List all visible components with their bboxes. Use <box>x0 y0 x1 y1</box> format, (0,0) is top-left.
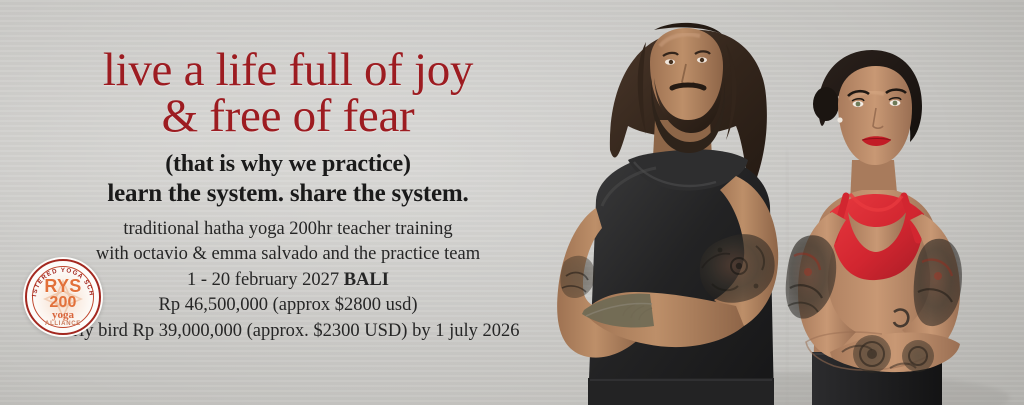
detail-location: BALI <box>344 270 389 290</box>
headline-line-1: live a life full of joy <box>103 44 473 96</box>
detail-dates: 1 - 20 february 2027 BALI <box>38 268 538 294</box>
detail-course: traditional hatha yoga 200hr teacher tra… <box>38 217 538 243</box>
page-title: live a life full of joy & free of fear <box>38 48 538 139</box>
detail-price: Rp 46,500,000 (approx $2800 usd) <box>38 293 538 319</box>
rys-200-badge: REGISTERED YOGA SCHOOL RYS 200 yoga ALLI… <box>23 257 103 337</box>
badge-alliance-label: ALLIANCE <box>23 321 103 327</box>
subheadline-line-1: (that is why we practice) <box>165 151 411 177</box>
subheadline-line-2: learn the system. share the system. <box>38 179 538 210</box>
person-woman <box>786 50 962 405</box>
yoga-retreat-banner: live a life full of joy & free of fear (… <box>0 0 1024 405</box>
teachers-photo <box>550 0 1024 405</box>
detail-teachers: with octavio & emma salvado and the prac… <box>38 242 538 268</box>
badge-rys-label: RYS <box>23 278 103 295</box>
person-man <box>557 23 778 405</box>
badge-yoga-label: yoga <box>23 310 103 321</box>
promo-copy: live a life full of joy & free of fear (… <box>38 48 538 345</box>
course-details: traditional hatha yoga 200hr teacher tra… <box>38 217 538 345</box>
detail-dates-text: 1 - 20 february 2027 <box>187 270 344 290</box>
subheadline: (that is why we practice) learn the syst… <box>38 150 538 210</box>
detail-early-bird: early bird Rp 39,000,000 (approx. $2300 … <box>38 319 538 345</box>
headline-line-2: & free of fear <box>38 94 538 140</box>
